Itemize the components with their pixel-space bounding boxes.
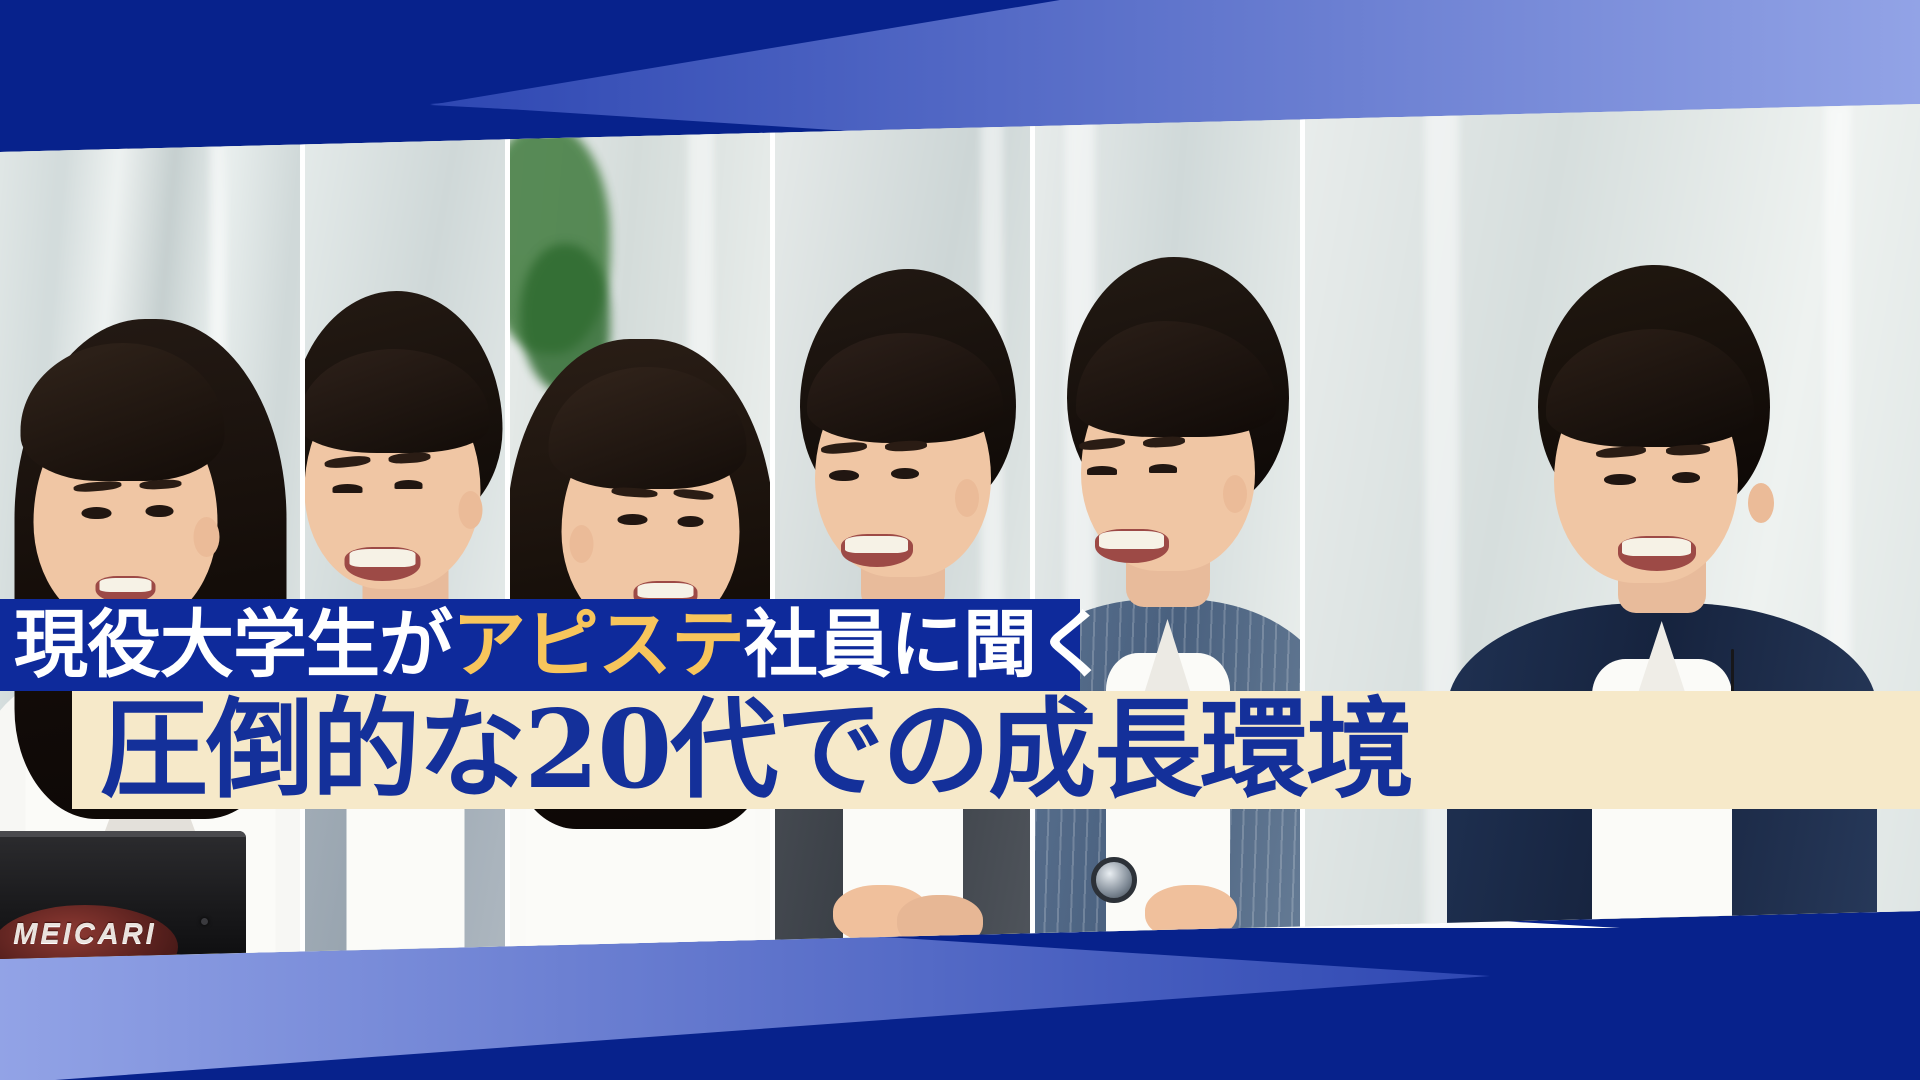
subtitle-text: 現役大学生がアピステ社員に聞く bbox=[0, 608, 1109, 682]
main-title: 圧倒的な20代での成長環境 bbox=[72, 696, 1412, 804]
laptop-with-brand-logo: MEICARI bbox=[0, 831, 246, 959]
photo-panel-woman-1: MEICARI bbox=[0, 104, 305, 959]
meicari-logo-text: MEICARI bbox=[13, 918, 156, 951]
photo-panel-woman-2 bbox=[510, 104, 775, 959]
title-banner: 圧倒的な20代での成長環境 bbox=[72, 691, 1920, 809]
subtitle-segment-3: 社員に聞く bbox=[744, 602, 1109, 688]
photo-panel-man-1 bbox=[305, 104, 510, 959]
subtitle-segment-accent: アピステ bbox=[452, 602, 744, 688]
subtitle-segment-1: 現役大学生が bbox=[14, 602, 452, 688]
photo-panel-man-4 bbox=[1305, 104, 1920, 959]
photo-panel-man-3 bbox=[1035, 104, 1305, 959]
interview-photo-strip: MEICARI bbox=[0, 104, 1920, 959]
photo-panel-man-2 bbox=[775, 104, 1035, 959]
thumbnail-canvas: MEICARI bbox=[0, 0, 1920, 1080]
subtitle-banner: 現役大学生がアピステ社員に聞く bbox=[0, 599, 1080, 691]
meicari-logo: MEICARI bbox=[0, 905, 178, 959]
